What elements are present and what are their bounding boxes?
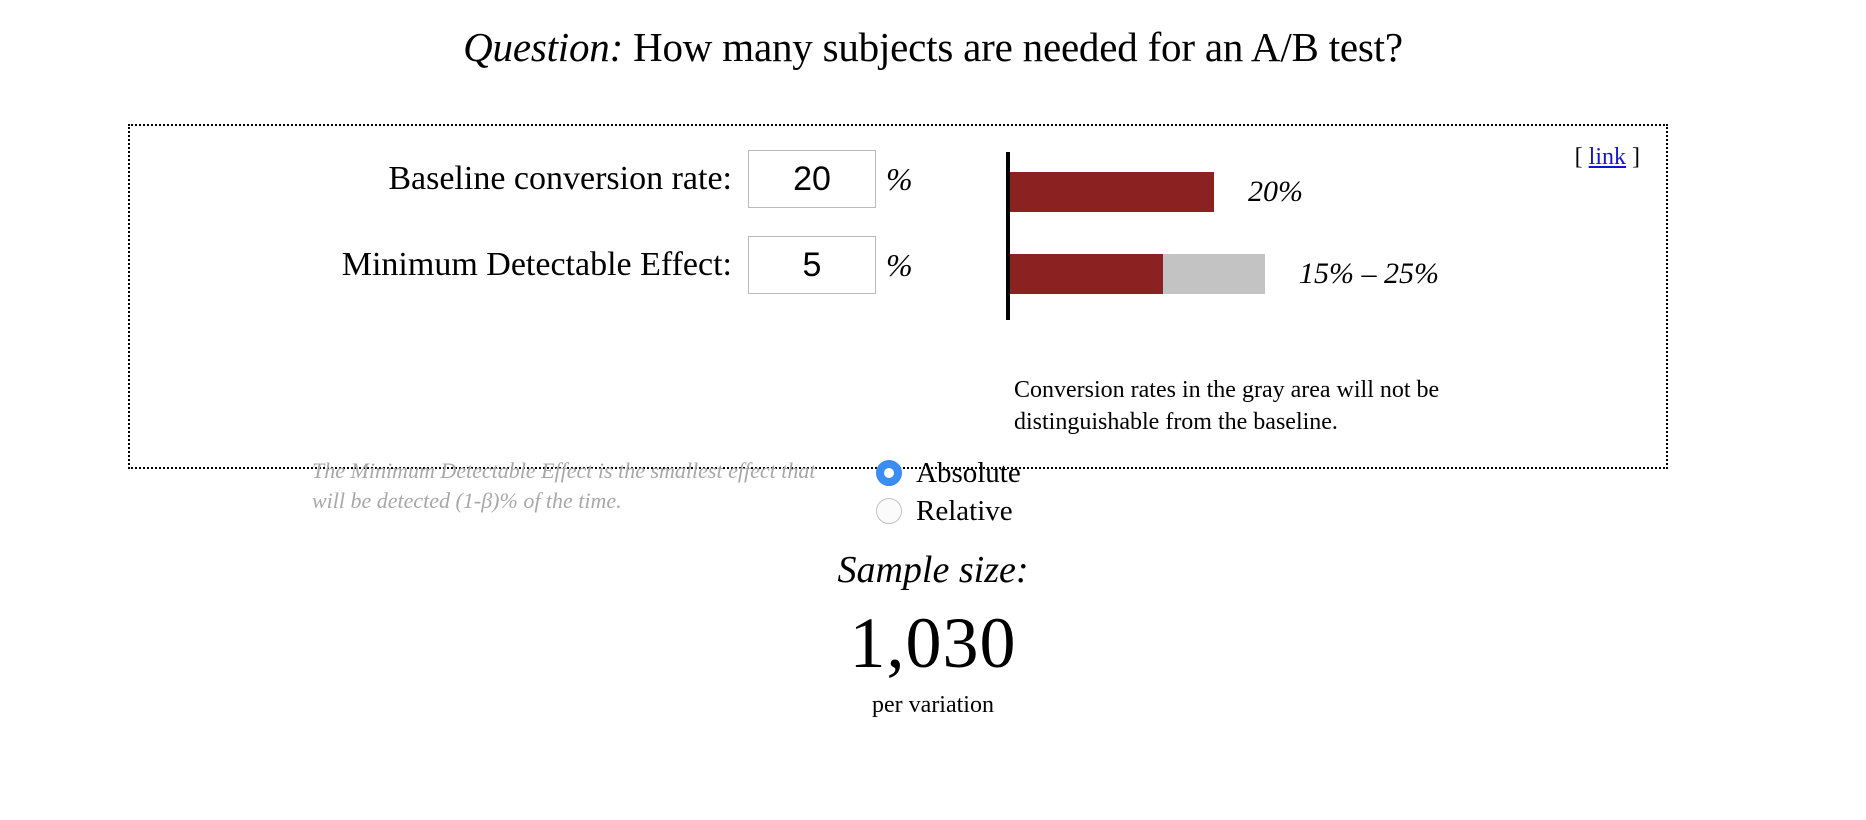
minimum-detectable-effect-label: Minimum Detectable Effect: — [190, 248, 748, 282]
effect-visualization-chart: 20% 15% – 25% Conversion rates in the gr… — [1002, 126, 1662, 471]
result-section: Sample size: 1,030 per variation — [0, 550, 1866, 719]
field-row-mde: Minimum Detectable Effect: % — [190, 236, 913, 294]
mde-help-text: The Minimum Detectable Effect is the sma… — [312, 456, 832, 515]
bar-segment-detectable — [1010, 254, 1163, 294]
bar-segment-undetectable-gray — [1163, 254, 1265, 294]
mde-percent-sign: % — [876, 247, 913, 284]
sample-size-unit: per variation — [0, 692, 1866, 719]
sample-size-label: Sample size: — [0, 550, 1866, 592]
bar-label-baseline: 20% — [1214, 177, 1303, 207]
radio-unselected-icon[interactable] — [876, 498, 902, 524]
sample-size-value: 1,030 — [0, 600, 1866, 686]
effect-type-radio-group: Absolute Relative — [876, 454, 1021, 530]
page-title-prefix: Question: — [463, 24, 623, 70]
bar-row-baseline: 20% — [1010, 172, 1303, 212]
baseline-conversion-rate-label: Baseline conversion rate: — [190, 162, 748, 196]
gray-area-explanation-text: Conversion rates in the gray area will n… — [1014, 374, 1574, 439]
bar-row-mde-range: 15% – 25% — [1010, 254, 1439, 294]
bar-track-mde-range — [1010, 254, 1265, 294]
bar-segment-baseline — [1010, 172, 1214, 212]
radio-selected-icon[interactable] — [876, 460, 902, 486]
bar-label-mde-range: 15% – 25% — [1265, 259, 1439, 289]
baseline-conversion-rate-input[interactable] — [748, 150, 876, 208]
radio-option-relative[interactable]: Relative — [876, 492, 1021, 530]
radio-label-relative: Relative — [916, 497, 1013, 526]
radio-option-absolute[interactable]: Absolute — [876, 454, 1021, 492]
field-row-baseline: Baseline conversion rate: % — [190, 150, 913, 208]
page-title-rest: How many subjects are needed for an A/B … — [623, 24, 1403, 70]
bar-track-baseline — [1010, 172, 1214, 212]
page-title: Question: How many subjects are needed f… — [0, 0, 1866, 70]
calculator-panel: [ link ] Baseline conversion rate: % Min… — [128, 124, 1668, 469]
baseline-percent-sign: % — [876, 161, 913, 198]
minimum-detectable-effect-input[interactable] — [748, 236, 876, 294]
